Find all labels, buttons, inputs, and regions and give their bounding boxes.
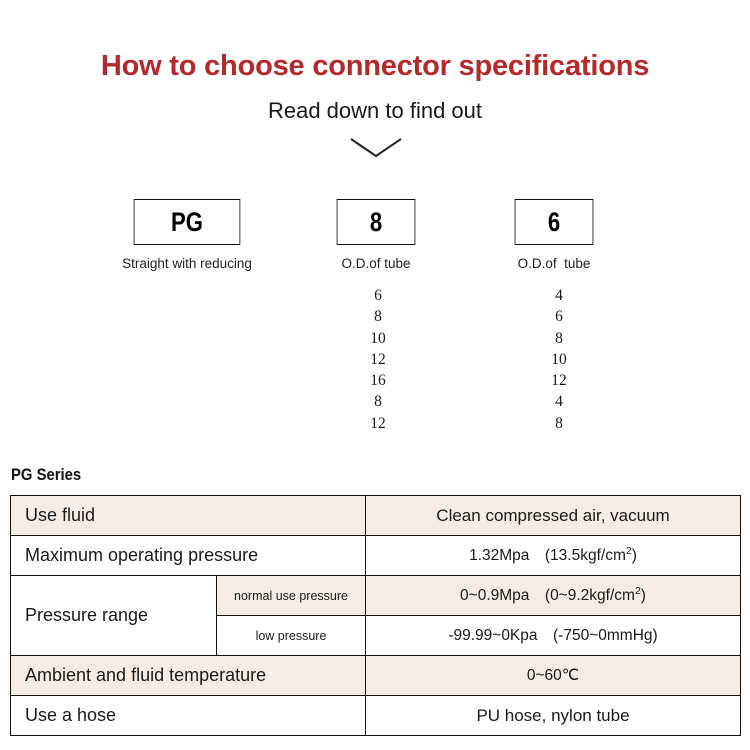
row-sublabel-normal-use-pressure: normal use pressure xyxy=(217,576,366,616)
row-value-ambient-fluid-temperature: 0~60℃ xyxy=(366,656,741,696)
row-label-use-fluid: Use fluid xyxy=(11,496,366,536)
spec-table-heading: PG Series xyxy=(11,466,81,485)
option-value[interactable]: 4 xyxy=(519,391,599,412)
row-label-pressure-range: Pressure range xyxy=(11,576,217,656)
option-value[interactable]: 8 xyxy=(338,391,418,412)
row-value-use-fluid: Clean compressed air, vacuum xyxy=(366,496,741,536)
option-value[interactable]: 10 xyxy=(338,328,418,349)
row-sublabel-low-pressure: low pressure xyxy=(217,616,366,656)
row-label-max-operating-pressure: Maximum operating pressure xyxy=(11,536,366,576)
option-value[interactable]: 12 xyxy=(519,370,599,391)
row-label-ambient-fluid-temperature: Ambient and fluid temperature xyxy=(11,656,366,696)
table-row: Use fluid Clean compressed air, vacuum xyxy=(11,496,741,536)
page-subtitle: Read down to find out xyxy=(0,98,750,124)
value-tail: ) xyxy=(632,548,637,565)
option-column-tube-od-1: 6 8 10 12 16 8 12 xyxy=(338,285,418,434)
table-row: Maximum operating pressure 1.32Mpa (13.5… xyxy=(11,536,741,576)
option-value[interactable]: 6 xyxy=(519,306,599,327)
spec-caption-series: Straight with reducing xyxy=(97,256,277,271)
spec-box-tube-od-1[interactable]: 8 xyxy=(337,199,416,245)
option-column-tube-od-2: 4 6 8 10 12 4 8 xyxy=(519,285,599,434)
value-tail: ) xyxy=(641,588,646,605)
option-value[interactable]: 8 xyxy=(519,413,599,434)
spec-caption-tube-od-2: O.D.of tube xyxy=(504,256,604,271)
spec-caption-tube-od-1: O.D.of tube xyxy=(326,256,426,271)
spec-box-series[interactable]: PG xyxy=(134,199,241,245)
option-value[interactable]: 12 xyxy=(338,413,418,434)
table-row: Use a hose PU hose, nylon tube xyxy=(11,696,741,736)
table-row: Pressure range normal use pressure 0~0.9… xyxy=(11,576,741,616)
option-value[interactable]: 8 xyxy=(338,306,418,327)
option-value[interactable]: 4 xyxy=(519,285,599,306)
option-value[interactable]: 6 xyxy=(338,285,418,306)
row-value-max-operating-pressure: 1.32Mpa (13.5kgf/cm2) xyxy=(366,536,741,576)
option-value[interactable]: 12 xyxy=(338,349,418,370)
option-value[interactable]: 16 xyxy=(338,370,418,391)
row-label-use-a-hose: Use a hose xyxy=(11,696,366,736)
option-value[interactable]: 10 xyxy=(519,349,599,370)
value-main: 0~0.9Mpa (0~9.2kgf/cm xyxy=(460,588,635,605)
spec-box-tube-od-2[interactable]: 6 xyxy=(515,199,594,245)
row-value-normal-use-pressure: 0~0.9Mpa (0~9.2kgf/cm2) xyxy=(366,576,741,616)
page-title: How to choose connector specifications xyxy=(0,50,750,83)
row-value-use-a-hose: PU hose, nylon tube xyxy=(366,696,741,736)
chevron-down-icon xyxy=(349,136,403,160)
value-main: 1.32Mpa (13.5kgf/cm xyxy=(469,548,626,565)
table-row: Ambient and fluid temperature 0~60℃ xyxy=(11,656,741,696)
spec-table: Use fluid Clean compressed air, vacuum M… xyxy=(10,495,741,736)
option-value[interactable]: 8 xyxy=(519,328,599,349)
row-value-low-pressure: -99.99~0Kpa (-750~0mmHg) xyxy=(366,616,741,656)
